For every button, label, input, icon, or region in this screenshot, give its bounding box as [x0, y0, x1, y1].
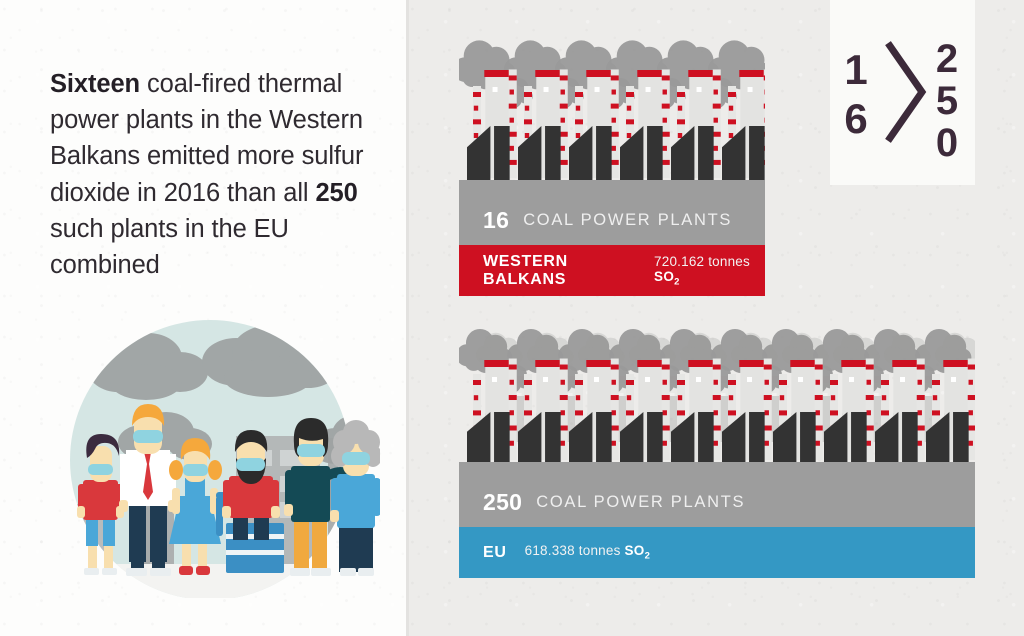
- page-title: Sixteen coal-fired thermal power plants …: [50, 66, 386, 283]
- greater-than-icon: [890, 46, 922, 138]
- thin-pipe: [968, 359, 975, 460]
- thin-pipe: [866, 359, 874, 460]
- eu-region-bar: EU 618.338 tonnes SO2: [459, 527, 975, 578]
- chart-western-balkans: 16 COAL POWER PLANTS WESTERN BALKANS 720…: [459, 196, 765, 296]
- headline-emphasis: 250: [315, 179, 357, 207]
- eu-caption: COAL POWER PLANTS: [536, 493, 745, 512]
- factory-base: [459, 180, 765, 196]
- badge-left-top: 1: [844, 46, 867, 93]
- eu-region: EU: [483, 544, 507, 562]
- panel-divider: [406, 0, 409, 636]
- badge-right-bottom: 0: [936, 121, 958, 165]
- thin-pipe: [662, 69, 670, 178]
- factory-base: [459, 462, 975, 478]
- wb-amount: 720.162 tonnes SO2: [654, 254, 765, 288]
- wb-caption: COAL POWER PLANTS: [523, 211, 732, 230]
- thin-pipe: [662, 359, 670, 460]
- thin-pipe: [815, 359, 823, 460]
- thin-pipe: [764, 359, 772, 460]
- thin-pipe: [713, 359, 721, 460]
- eu-count-bar: 250 COAL POWER PLANTS: [459, 478, 975, 527]
- boy-mask: [88, 464, 113, 475]
- badge-right-mid: 5: [936, 79, 958, 123]
- wb-region-bar: WESTERN BALKANS 720.162 tonnes SO2: [459, 245, 765, 296]
- thin-pipe: [509, 69, 517, 178]
- wb-count-bar: 16 COAL POWER PLANTS: [459, 196, 765, 245]
- chart-european-union: 250 COAL POWER PLANTS EU 618.338 tonnes …: [459, 478, 975, 578]
- thin-pipe: [713, 69, 721, 178]
- man-mask: [133, 430, 163, 443]
- thin-pipe: [611, 359, 619, 460]
- figure-elderly: [330, 420, 380, 576]
- thin-pipe: [611, 69, 619, 178]
- badge-right-top: 2: [936, 37, 958, 81]
- factories-european-union: [459, 318, 975, 478]
- comparison-badge: 1 6 2 5 0: [830, 0, 975, 185]
- eu-count: 250: [483, 489, 522, 516]
- eu-amount: 618.338 tonnes SO2: [525, 543, 651, 562]
- thin-pipe: [560, 69, 568, 178]
- badge-left-bottom: 6: [844, 95, 867, 142]
- headline-lead: Sixteen: [50, 70, 140, 98]
- girl-pigtail-right: [208, 460, 222, 480]
- thin-pipe: [917, 359, 925, 460]
- thin-pipe: [560, 359, 568, 460]
- girl-mask: [183, 464, 208, 476]
- wb-count: 16: [483, 207, 509, 234]
- elderly-mask: [342, 452, 370, 465]
- wheelchair-man-mask: [236, 458, 265, 471]
- woman-mask: [297, 444, 325, 457]
- girl-pigtail-left: [169, 460, 183, 480]
- wb-region: WESTERN BALKANS: [483, 253, 636, 289]
- thin-pipe: [509, 359, 517, 460]
- factories-western-balkans: [459, 26, 765, 196]
- headline-text-2: such plants in the EU combined: [50, 215, 289, 279]
- infographic-canvas: Sixteen coal-fired thermal power plants …: [0, 0, 1024, 636]
- illustration-people-masks: [40, 318, 380, 598]
